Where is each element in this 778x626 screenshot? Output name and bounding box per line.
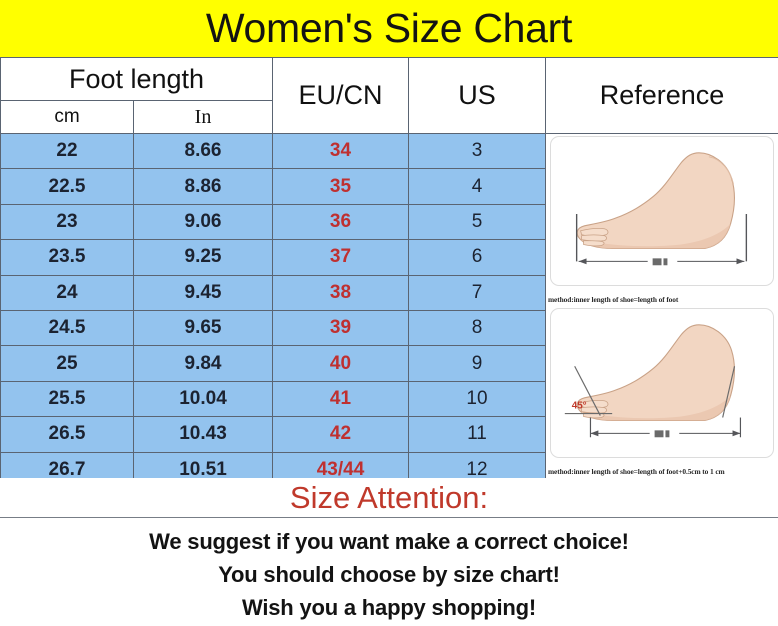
cell-us: 7: [409, 275, 546, 310]
foot-illustration-svg: [551, 137, 773, 285]
cell-cm: 26.5: [1, 417, 134, 452]
table-row: 22 8.66 34 3: [1, 134, 778, 169]
header-eu-cn: EU/CN: [273, 58, 409, 134]
cell-in: 8.66: [134, 134, 273, 169]
cell-cm: 25: [1, 346, 134, 381]
foot-side-view-icon: [550, 136, 774, 286]
foot-illustration-angled-svg: 45°: [551, 309, 773, 457]
cell-eu: 41: [273, 381, 409, 416]
header-foot-length: Foot length: [1, 58, 273, 101]
header-reference: Reference: [546, 58, 778, 134]
reference-figure-2: 45°: [546, 306, 778, 478]
cell-us: 6: [409, 240, 546, 275]
cell-us: 4: [409, 169, 546, 204]
cell-us: 5: [409, 204, 546, 239]
cell-us: 10: [409, 381, 546, 416]
cell-cm: 23.5: [1, 240, 134, 275]
cell-cm: 24.5: [1, 310, 134, 345]
reference-caption-2: method:inner length of shoe=length of fo…: [548, 467, 776, 477]
size-attention-heading: Size Attention:: [290, 482, 488, 513]
cell-us: 3: [409, 134, 546, 169]
header-us: US: [409, 58, 546, 134]
header-cm: cm: [1, 101, 134, 134]
cell-us: 8: [409, 310, 546, 345]
cell-cm: 23: [1, 204, 134, 239]
cell-in: 9.65: [134, 310, 273, 345]
reference-cell: method:inner length of shoe=length of fo…: [546, 134, 778, 488]
note-line: We suggest if you want make a correct ch…: [0, 525, 778, 558]
cell-us: 9: [409, 346, 546, 381]
size-attention-notes: We suggest if you want make a correct ch…: [0, 519, 778, 626]
cell-eu: 37: [273, 240, 409, 275]
cell-eu: 36: [273, 204, 409, 239]
reference-caption-1: method:inner length of shoe=length of fo…: [548, 295, 776, 305]
cell-in: 9.25: [134, 240, 273, 275]
cell-in: 9.45: [134, 275, 273, 310]
cell-in: 10.43: [134, 417, 273, 452]
cell-eu: 35: [273, 169, 409, 204]
header-in: In: [134, 101, 273, 134]
page-title: Women's Size Chart: [206, 8, 572, 49]
cell-cm: 24: [1, 275, 134, 310]
cell-in: 9.06: [134, 204, 273, 239]
reference-figures: method:inner length of shoe=length of fo…: [546, 134, 778, 487]
size-chart-page: Women's Size Chart Foot length EU/CN US …: [0, 0, 778, 626]
foot-side-view-angled-icon: 45°: [550, 308, 774, 458]
angle-label-text: 45°: [572, 401, 587, 412]
size-chart-table: Foot length EU/CN US Reference cm In 22 …: [0, 57, 778, 488]
cell-cm: 22: [1, 134, 134, 169]
cell-eu: 42: [273, 417, 409, 452]
size-attention-bar: Size Attention:: [0, 478, 778, 518]
title-banner: Women's Size Chart: [0, 0, 778, 57]
cell-cm: 22.5: [1, 169, 134, 204]
cell-eu: 38: [273, 275, 409, 310]
cell-eu: 34: [273, 134, 409, 169]
cell-in: 8.86: [134, 169, 273, 204]
note-line: You should choose by size chart!: [0, 558, 778, 591]
cell-cm: 25.5: [1, 381, 134, 416]
cell-us: 11: [409, 417, 546, 452]
table-header-row-group: Foot length EU/CN US Reference: [1, 58, 778, 101]
cell-eu: 40: [273, 346, 409, 381]
cell-in: 10.04: [134, 381, 273, 416]
cell-eu: 39: [273, 310, 409, 345]
reference-figure-1: method:inner length of shoe=length of fo…: [546, 134, 778, 306]
cell-in: 9.84: [134, 346, 273, 381]
note-line: Wish you a happy shopping!: [0, 591, 778, 624]
